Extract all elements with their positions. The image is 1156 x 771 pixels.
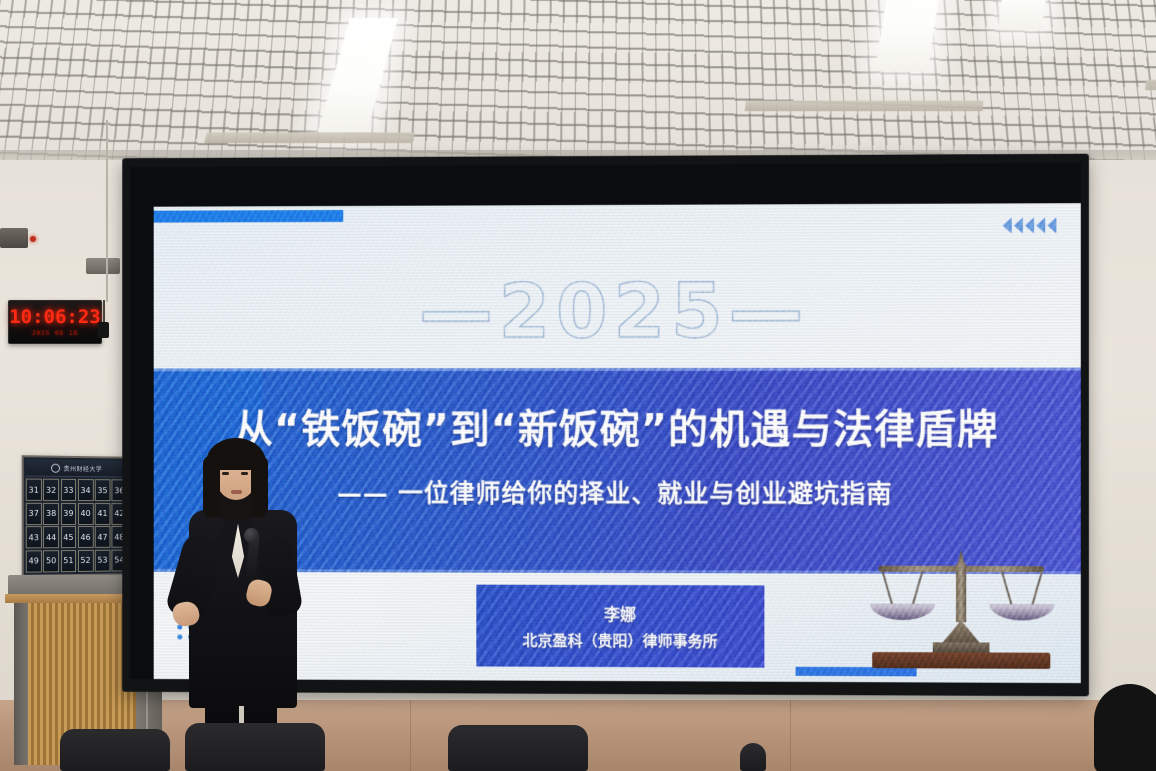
chevron-left-icon: [1025, 217, 1034, 233]
locker-cell[interactable]: 34: [78, 479, 94, 501]
presenter-hair-side-left: [203, 456, 220, 518]
locker-cell[interactable]: 37: [26, 502, 42, 524]
ceiling-vent: [745, 101, 984, 112]
chevron-left-icon: [1036, 217, 1045, 233]
audience-chair: [60, 729, 170, 771]
speaker-info-card: 李娜 北京盈科（贵阳）律师事务所: [476, 585, 764, 668]
speaker-organization: 北京盈科（贵阳）律师事务所: [523, 630, 718, 652]
audience-chair: [185, 723, 325, 771]
locker-cell[interactable]: 51: [61, 550, 77, 572]
wall-sensor: [0, 228, 28, 248]
digital-clock: 10:06:23 2025 06 18: [8, 300, 102, 344]
audience-chair: [448, 725, 588, 771]
locker-cell[interactable]: 44: [43, 526, 59, 548]
scales-plinth: [933, 642, 990, 652]
locker-cell[interactable]: 47: [95, 526, 110, 548]
ceiling-vent: [204, 132, 414, 143]
classroom-presentation-photo: 10:06:23 2025 06 18 贵州财经大学 31 32 33 34 3…: [0, 0, 1156, 771]
locker-cell[interactable]: 38: [43, 502, 59, 524]
locker-cell[interactable]: 49: [26, 550, 42, 572]
speaker-name: 李娜: [604, 601, 636, 625]
scales-chain: [1031, 571, 1043, 606]
locker-cell[interactable]: 41: [95, 503, 110, 525]
numbered-locker-board[interactable]: 贵州财经大学 31 32 33 34 35 36 37 38 39 40 41 …: [22, 455, 131, 577]
audience-chair: [740, 743, 766, 771]
wall-junction-box: [86, 258, 120, 274]
card-texture-overlay: [476, 585, 764, 668]
chevron-left-icon: [1014, 217, 1023, 233]
locker-board-header: 贵州财经大学: [26, 459, 127, 477]
locker-cell[interactable]: 40: [78, 503, 94, 525]
chevron-left-icon: [1003, 218, 1012, 234]
scales-of-justice-icon: [860, 527, 1062, 668]
ceiling-light-panel: [317, 18, 398, 132]
locker-cell[interactable]: 39: [61, 502, 77, 524]
clock-date-display: 2025 06 18: [32, 330, 78, 337]
locker-cell[interactable]: 35: [95, 479, 110, 501]
presenter-eye-left: [222, 472, 229, 475]
scales-pan-right: [989, 604, 1054, 620]
locker-cell[interactable]: 43: [26, 526, 42, 548]
scales-pedestal: [943, 620, 979, 642]
scales-base: [872, 652, 1050, 669]
locker-grid: 31 32 33 34 35 36 37 38 39 40 41 42 43 4…: [26, 477, 127, 573]
locker-cell[interactable]: 31: [26, 479, 42, 501]
locker-cell[interactable]: 53: [95, 549, 110, 571]
locker-cell[interactable]: 33: [61, 479, 77, 501]
floor-tile-line: [790, 700, 791, 771]
slide-top-accent-bar: [154, 210, 344, 223]
clock-power-cable: [106, 120, 108, 302]
scales-column: [956, 564, 966, 622]
clock-plug: [98, 322, 109, 338]
presenter-eye-right: [241, 472, 248, 475]
chevron-left-icon-group: [1003, 217, 1057, 233]
locker-cell[interactable]: 46: [78, 526, 94, 548]
locker-cell[interactable]: 50: [43, 550, 59, 572]
presenter-hair-side-right: [251, 456, 268, 518]
locker-cell[interactable]: 52: [78, 549, 94, 571]
band-top-edge: [154, 368, 1081, 372]
locker-cell[interactable]: 45: [61, 526, 77, 548]
scales-chain: [1001, 571, 1013, 606]
scales-chain: [881, 570, 892, 605]
presenter-mouth: [231, 490, 242, 494]
presenter-figure: [175, 438, 310, 708]
ceiling-light-panel: [875, 0, 945, 71]
microphone-head-icon: [244, 528, 259, 543]
locker-board-title: 贵州财经大学: [64, 463, 103, 472]
locker-cell[interactable]: 32: [43, 479, 59, 501]
scales-pan-left: [870, 604, 935, 620]
scales-chain: [912, 570, 923, 605]
ceiling-light-panel: [997, 0, 1052, 30]
slide-year: —2025—: [154, 274, 1081, 350]
floor-tile-line: [410, 700, 411, 771]
sensor-led-icon: [30, 236, 36, 242]
chevron-left-icon: [1047, 217, 1056, 233]
audience-head: [1094, 684, 1156, 771]
clock-time-display: 10:06:23: [9, 308, 101, 327]
university-logo-icon: [52, 463, 61, 472]
ceiling-vent: [1145, 80, 1156, 90]
